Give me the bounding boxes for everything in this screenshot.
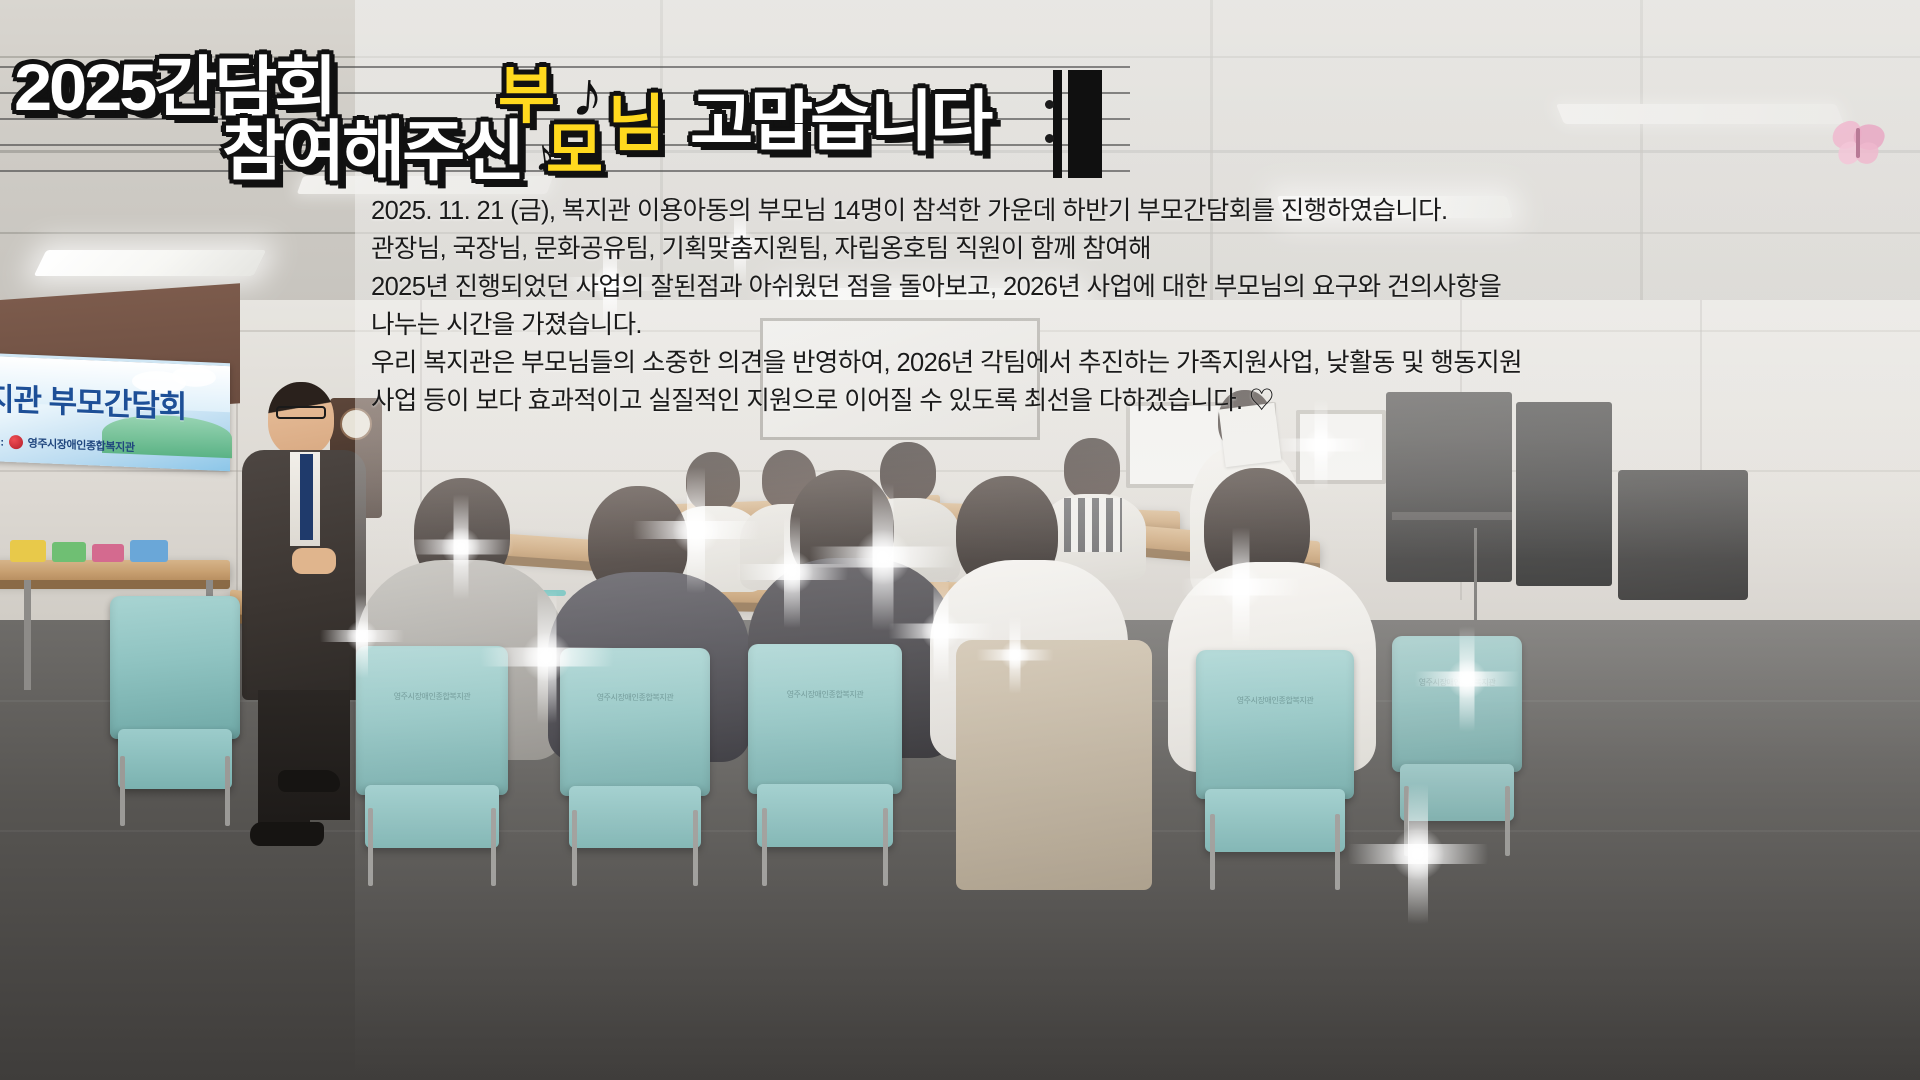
person-shoe [250,822,324,846]
banner-org-prefix: 관 : [0,433,4,450]
org-logo-icon [9,435,23,450]
staff-end-barline [1068,70,1102,178]
person-head [268,382,334,456]
necktie [300,454,313,540]
poster-title-block: 2025간담회 참여해주신 ♪ ♪ 부 모 님 고맙습니다 [0,26,1130,186]
chair-seat [118,729,232,789]
table-edge [0,580,230,589]
body-line: 사업 등이 보다 효과적이고 실질적인 지원으로 이어질 수 있도록 최선을 다… [371,382,1461,420]
eyeglasses [276,406,326,419]
butterfly-body [1856,128,1860,158]
side-table [0,560,230,582]
title-highlight-syllable-3: 님 [608,94,663,156]
repeat-dot-icon [1045,134,1054,143]
chair-leg [120,756,125,826]
body-line: 2025. 11. 21 (금), 복지관 이용아동의 부모님 14명이 참석한… [371,192,1461,230]
chair-leg [225,756,230,826]
person-shoe [278,770,340,792]
table-item [10,540,46,562]
chair [110,596,240,826]
body-line: 우리 복지관은 부모님들의 소중한 의견을 반영하여, 2026년 각팀에서 추… [371,344,1461,382]
table-item [92,544,124,562]
title-highlight-syllable-1: 부 [498,66,553,128]
banner-title: 지관 부모간담회 [0,373,216,428]
person-legs [300,690,350,820]
title-line-1: 2025간담회 [14,54,334,120]
body-line: 나누는 시간을 가졌습니다. [371,306,1461,344]
table-item [130,540,168,562]
table-leg [24,580,31,690]
title-line-3: 고맙습니다 [690,88,990,154]
repeat-dot-icon [1045,100,1054,109]
person-hands [292,548,336,574]
staff-thin-barline [1053,70,1062,178]
title-line-2: 참여해주신 [222,118,522,184]
title-highlight-syllable-2: 모 [546,121,601,183]
ceiling-light [34,250,267,276]
body-line: 2025년 진행되었던 사업의 잘된점과 아쉬웠던 점을 돌아보고, 2026년… [371,268,1461,306]
chair-back [110,596,240,739]
butterfly-icon [1830,122,1888,168]
body-line: 관장님, 국장님, 문화공유팀, 기획맞춤지원팀, 자립옹호팀 직원이 함께 참… [371,230,1461,268]
table-item [52,542,86,562]
poster-canvas: 지관 부모간담회 관 : 영주시장애인종합복지관 [0,0,1920,1080]
poster-body-text: 2025. 11. 21 (금), 복지관 이용아동의 부모님 14명이 참석한… [371,192,1461,420]
